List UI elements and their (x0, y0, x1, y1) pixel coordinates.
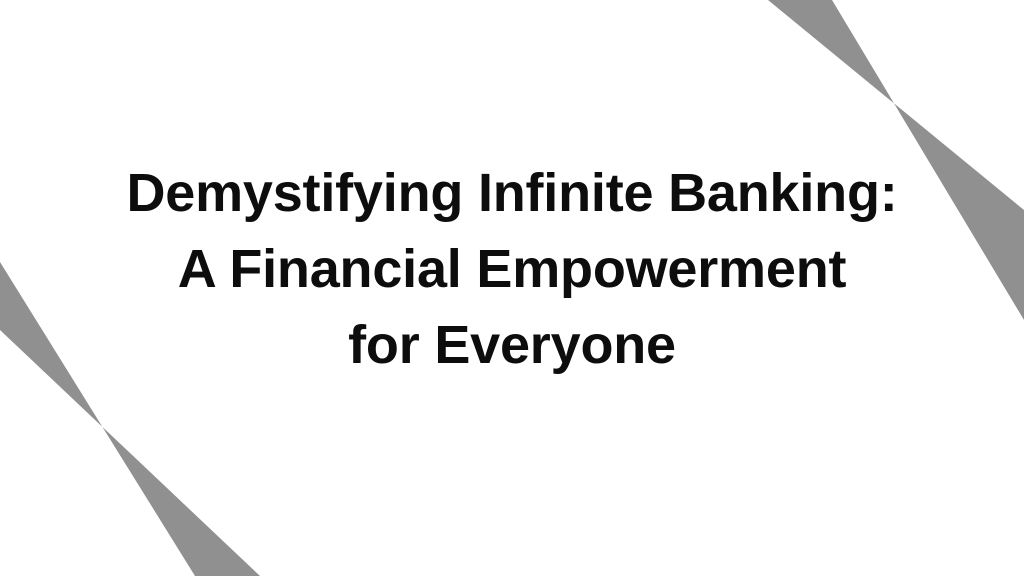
title-line-3: for Everyone (348, 307, 676, 383)
page-title: Demystifying Infinite Banking: A Financi… (0, 0, 1024, 576)
title-line-2: A Financial Empowerment (178, 231, 847, 307)
title-line-1: Demystifying Infinite Banking: (126, 155, 897, 231)
title-slide: Demystifying Infinite Banking: A Financi… (0, 0, 1024, 576)
